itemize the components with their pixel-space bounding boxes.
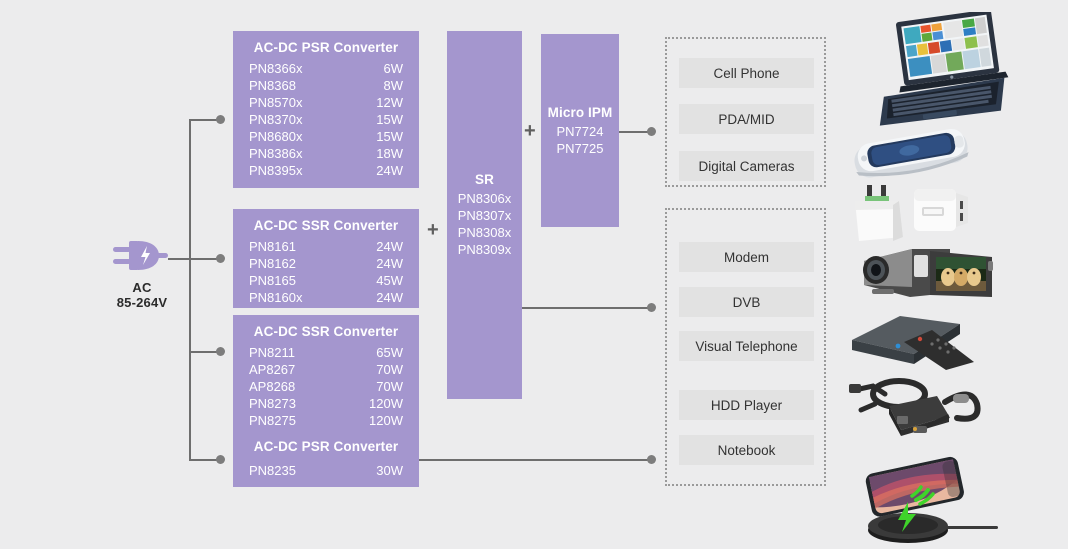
wire-ac-to-bus [168, 258, 191, 260]
part-number: PN8680x [249, 128, 302, 145]
part-row: PN8570x 12W [249, 94, 403, 111]
part-row: PN8162 24W [249, 255, 403, 272]
part-number: PN8165 [249, 272, 296, 289]
wire-distribution-bus [189, 119, 191, 461]
part-row: PN8235 30W [249, 462, 403, 479]
converter-block-ssr-1[interactable]: AC-DC SSR Converter PN8161 24W PN8162 24… [233, 209, 419, 308]
part-number: PN8366x [249, 60, 302, 77]
wire-dot-apps-1 [647, 127, 656, 136]
part-number: PN8162 [249, 255, 296, 272]
part-row: PN8395x 24W [249, 162, 403, 179]
part-row: PN8366x 6W [249, 60, 403, 77]
power-plug-icon [96, 236, 188, 276]
app-item-digital-cameras[interactable]: Digital Cameras [679, 151, 814, 181]
part-power: 70W [376, 361, 403, 378]
wire-dot-apps-3 [647, 455, 656, 464]
part-number: PN8211 [249, 344, 295, 361]
micro-ipm-title: Micro IPM [548, 105, 613, 120]
part-row: PN8211 65W [249, 344, 403, 361]
set-top-box-image [848, 310, 988, 375]
converter-block-psr-2[interactable]: AC-DC PSR Converter PN8235 30W [233, 430, 419, 487]
converter-title: AC-DC PSR Converter [249, 40, 403, 55]
part-power: 45W [376, 272, 403, 289]
part-power: 15W [376, 111, 403, 128]
part-row: PN8275 120W [249, 412, 403, 429]
ac-label-line2: 85-264V [96, 295, 188, 310]
application-group-mobile: Cell Phone PDA/MID Digital Cameras [665, 37, 826, 187]
sr-title: SR [475, 172, 494, 187]
sr-part-number: PN8306x [458, 190, 511, 207]
part-power: 24W [376, 162, 403, 179]
ac-power-source: AC 85-264V [96, 236, 188, 310]
part-power: 65W [376, 344, 403, 361]
part-number: PN8370x [249, 111, 302, 128]
part-number: PN8570x [249, 94, 302, 111]
wire-psr30-to-apps [419, 459, 652, 461]
part-power: 12W [376, 94, 403, 111]
wire-dot-apps-2 [647, 303, 656, 312]
part-power: 120W [369, 395, 403, 412]
part-number: PN8386x [249, 145, 302, 162]
converter-block-psr-1[interactable]: AC-DC PSR Converter PN8366x 6W PN8368 8W… [233, 31, 419, 188]
part-power: 18W [376, 145, 403, 162]
plus-operator-left: + [427, 220, 439, 240]
part-power: 15W [376, 128, 403, 145]
app-item-visual-telephone[interactable]: Visual Telephone [679, 331, 814, 361]
part-number: AP8268 [249, 378, 295, 395]
plus-operator-right: + [524, 121, 536, 141]
laptop-power-adapter-image [845, 372, 1005, 449]
sr-part-number: PN8307x [458, 207, 511, 224]
part-row: PN8386x 18W [249, 145, 403, 162]
laptop-tablet-hybrid-image [855, 12, 1035, 137]
wire-dot-4 [216, 455, 225, 464]
wireless-charging-phone-image [848, 456, 1008, 549]
part-power: 70W [376, 378, 403, 395]
camcorder-image [852, 237, 1002, 312]
ac-label-line1: AC [96, 280, 188, 295]
part-row: PN8160x 24W [249, 289, 403, 306]
part-row: PN8680x 15W [249, 128, 403, 145]
part-row: AP8268 70W [249, 378, 403, 395]
wire-sr-to-apps [522, 307, 652, 309]
part-row: PN8370x 15W [249, 111, 403, 128]
app-item-hdd-player[interactable]: HDD Player [679, 390, 814, 420]
part-row: PN8161 24W [249, 238, 403, 255]
diagram-canvas: AC 85-264V AC-DC PSR Converter PN8366x 6… [0, 0, 1068, 547]
part-power: 6W [384, 60, 404, 77]
part-number: PN8395x [249, 162, 302, 179]
part-row: PN8165 45W [249, 272, 403, 289]
app-item-dvb[interactable]: DVB [679, 287, 814, 317]
part-number: AP8267 [249, 361, 295, 378]
part-power: 8W [384, 77, 404, 94]
part-number: PN8275 [249, 412, 296, 429]
part-number: PN8161 [249, 238, 296, 255]
part-row: PN8368 8W [249, 77, 403, 94]
app-item-modem[interactable]: Modem [679, 242, 814, 272]
converter-title: AC-DC PSR Converter [249, 439, 403, 454]
app-item-cell-phone[interactable]: Cell Phone [679, 58, 814, 88]
converter-title: AC-DC SSR Converter [249, 218, 403, 233]
part-power: 24W [376, 289, 403, 306]
wire-dot-2 [216, 254, 225, 263]
part-row: PN8273 120W [249, 395, 403, 412]
micro-ipm-part-number: PN7724 [557, 123, 604, 140]
converter-block-ssr-2[interactable]: AC-DC SSR Converter PN8211 65W AP8267 70… [233, 315, 419, 430]
part-number: PN8368 [249, 77, 296, 94]
part-power: 30W [376, 462, 403, 479]
app-item-pda-mid[interactable]: PDA/MID [679, 104, 814, 134]
converter-title: AC-DC SSR Converter [249, 324, 403, 339]
app-item-notebook[interactable]: Notebook [679, 435, 814, 465]
sr-part-number: PN8308x [458, 224, 511, 241]
part-power: 24W [376, 255, 403, 272]
part-power: 24W [376, 238, 403, 255]
part-number: PN8235 [249, 462, 296, 479]
wire-dot-1 [216, 115, 225, 124]
micro-ipm-part-number: PN7725 [557, 140, 604, 157]
sr-block[interactable]: SR PN8306x PN8307x PN8308x PN8309x [447, 31, 522, 399]
wire-dot-3 [216, 347, 225, 356]
part-power: 120W [369, 412, 403, 429]
part-row: AP8267 70W [249, 361, 403, 378]
application-group-consumer: Modem DVB Visual Telephone HDD Player No… [665, 208, 826, 486]
smartphone-image [848, 122, 976, 191]
micro-ipm-block[interactable]: Micro IPM PN7724 PN7725 [541, 34, 619, 227]
part-number: PN8273 [249, 395, 296, 412]
part-number: PN8160x [249, 289, 302, 306]
sr-part-number: PN8309x [458, 241, 511, 258]
